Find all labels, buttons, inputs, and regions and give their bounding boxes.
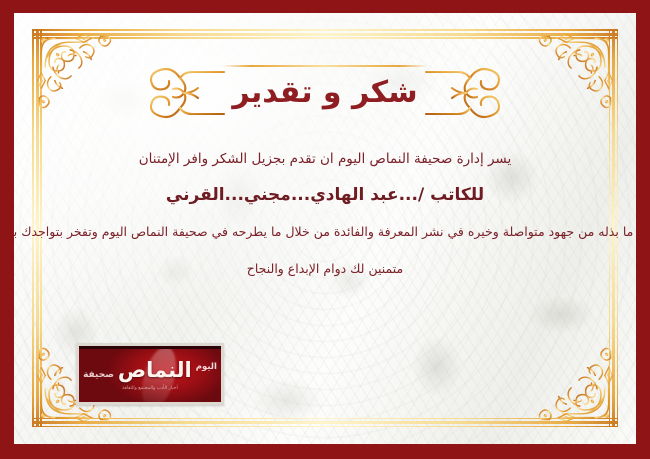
logo-tagline: أخبار الأدب والمجتمع والثقافة	[122, 386, 178, 391]
body-line-1: يسر إدارة صحيفة النماص اليوم ان تقدم بجز…	[139, 149, 511, 169]
page-title: شكر و تقدير	[232, 74, 417, 112]
scroll-flourish-icon-left	[140, 62, 226, 124]
title-row: شكر و تقدير	[140, 59, 509, 127]
logo-inner: اليوم النماص صحيفة أخبار الأدب والمجتمع …	[79, 346, 221, 402]
logo-word-alyoum: اليوم	[196, 362, 217, 372]
title-wrap: شكر و تقدير	[226, 74, 423, 112]
logo-word-sahifa: صحيفة	[83, 370, 114, 380]
body-line-4: متمنين لك دوام الإبداع والنجاح	[247, 260, 403, 279]
certificate: شكر و تقدير يسر إدارة ص	[0, 0, 650, 459]
scroll-flourish-icon-right	[424, 62, 510, 124]
newspaper-logo: اليوم النماص صحيفة أخبار الأدب والمجتمع …	[76, 343, 224, 405]
certificate-paper: شكر و تقدير يسر إدارة ص	[14, 13, 636, 444]
logo-wordmark: اليوم النماص صحيفة	[79, 360, 221, 381]
certificate-body: يسر إدارة صحيفة النماص اليوم ان تقدم بجز…	[14, 149, 636, 279]
logo-word-namas: النماص	[118, 360, 192, 381]
title-top-rule	[222, 65, 427, 67]
recipient-name-line: للكاتب /...عبد الهادي...مجني...القرني	[166, 185, 484, 205]
logo-frame: اليوم النماص صحيفة أخبار الأدب والمجتمع …	[76, 343, 224, 405]
body-line-3: على ما بذله من جهود متواصلة وخيره في نشر…	[14, 223, 636, 242]
